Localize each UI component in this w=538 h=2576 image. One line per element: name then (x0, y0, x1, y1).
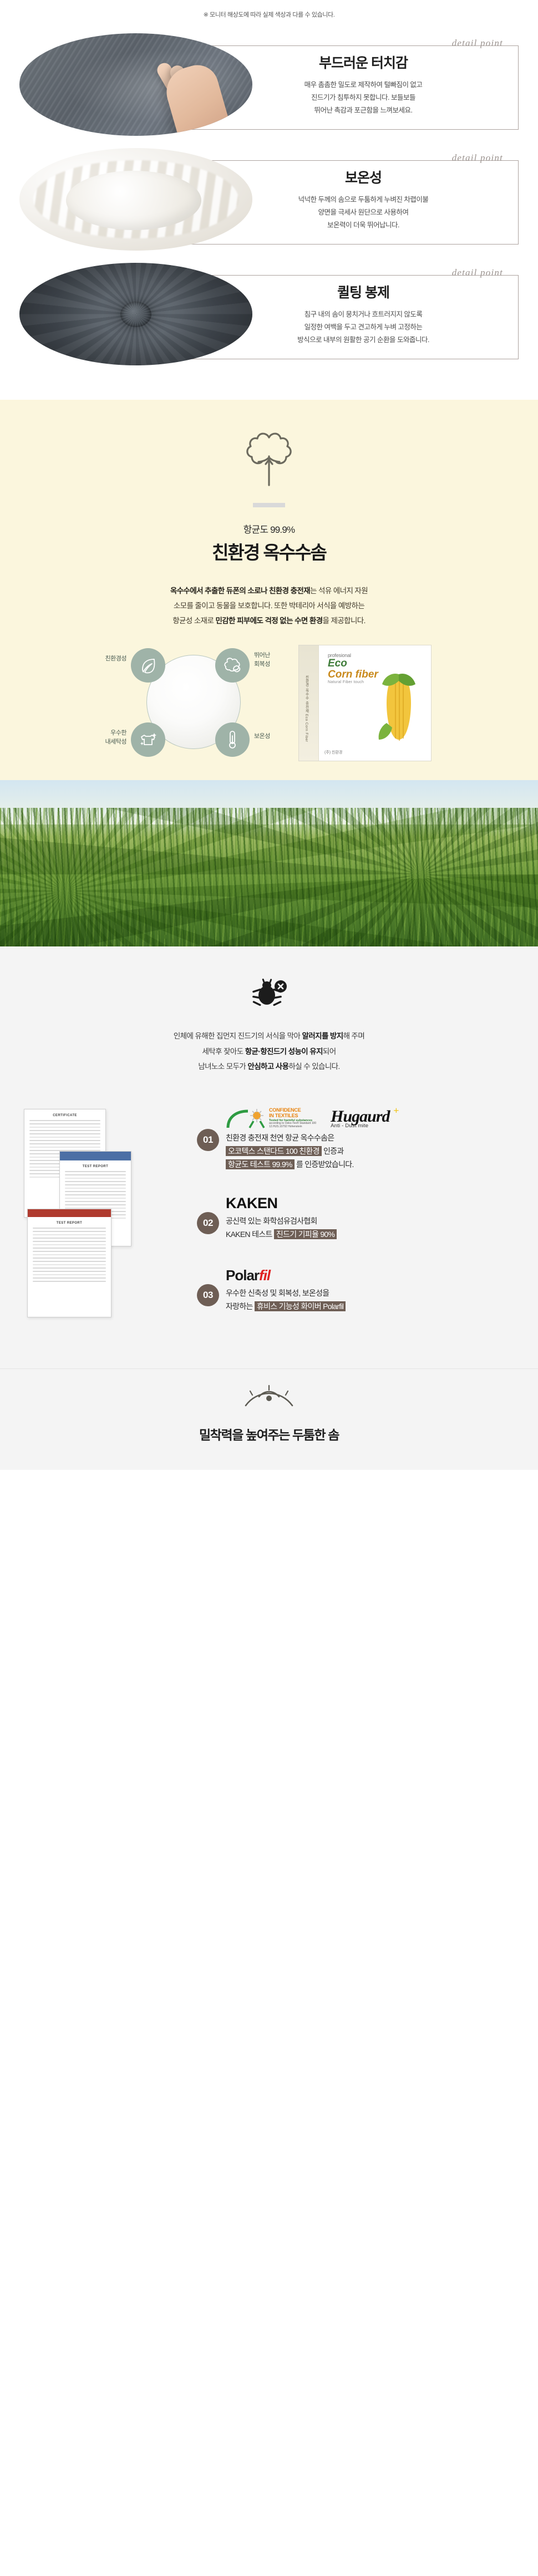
polarfil-logo: Polarfil (226, 1267, 270, 1284)
polarfil-text-b: fil (259, 1267, 270, 1284)
desc-line: 매우 촘촘한 밀도로 제작하여 털빠짐이 없고 (214, 79, 513, 91)
feature-icon-cluster: 친환경성 뛰어난 회복성 우수한 내세탁성 보온성 (106, 645, 278, 761)
corn-fiber-package-photo: 친환경 옥수수 충전재 Eco Corn Fiber profesional E… (298, 645, 432, 761)
mite-text-bold: 항균·항진드기 성능이 유지 (245, 1047, 323, 1056)
cert-line: KAKEN 테스트 진드기 기피율 90% (226, 1228, 519, 1241)
detail-text-3: detail point 퀼팅 봉제 침구 내의 솜이 뭉치거나 흐트러지지 않… (214, 278, 513, 347)
oeko-text-block: CONFIDENCE IN TEXTILES Tested for harmfu… (269, 1107, 316, 1129)
package-brand-line2: Corn fiber (328, 669, 378, 680)
kaken-logo: KAKEN (226, 1195, 278, 1212)
document-header-band (60, 1152, 131, 1160)
mite-text-bold: 알러지를 방지 (302, 1032, 343, 1040)
section-divider (253, 503, 285, 507)
footer-title: 밀착력을 높여주는 두툼한 솜 (0, 1424, 538, 1443)
anti-mite-body-text: 인체에 유해한 집먼지 진드기의 서식을 막아 알러지를 방지해 주며 세탁후 … (0, 1029, 538, 1075)
eco-body-text: 옥수수에서 추출한 듀폰의 소로나 친환경 충전재는 석유 에너지 자원 소모를… (75, 583, 463, 645)
certificate-number-02: 02 (197, 1212, 219, 1234)
mite-text: 되어 (323, 1047, 336, 1056)
feature-label-line: 내세탁성 (80, 738, 126, 747)
certificates-section: CERTIFICATE TEST REPORT TEST REPORT (0, 1100, 538, 1368)
cert-text-plain: 인증과 (322, 1147, 344, 1155)
oeko-line-1: CONFIDENCE (269, 1107, 316, 1113)
mite-text-bold: 안심하고 사용 (247, 1062, 288, 1071)
laundry-shirt-icon (131, 722, 165, 757)
product-detail-page: ※ 모니터 해상도에 따라 실제 색상과 다를 수 있습니다. detail p… (0, 0, 538, 1470)
document-title: TEST REPORT (60, 1165, 131, 1168)
detail-point-label-2: detail point (214, 152, 503, 164)
package-brand-logo: profesional Eco Corn fiber Natural Fiber… (328, 653, 378, 685)
hugaurd-wordmark: Hugaurd (331, 1107, 389, 1126)
eco-subtitle: 항균도 99.9% (0, 522, 538, 536)
certificate-item-02: KAKEN 02 공신력 있는 화학섬유검사협회 KAKEN 테스트 진드기 기… (197, 1183, 519, 1255)
certificate-text-02: 공신력 있는 화학섬유검사협회 KAKEN 테스트 진드기 기피율 90% (226, 1212, 519, 1241)
document-title: TEST REPORT (28, 1221, 111, 1225)
cert-line: 자랑하는 휴비스 기능성 화이버 Polarfil (226, 1300, 519, 1313)
desc-line: 보온력이 더욱 뛰어납니다. (214, 219, 513, 232)
detail-point-block-3: detail point 퀼팅 봉제 침구 내의 솜이 뭉치거나 흐트러지지 않… (19, 263, 519, 365)
feature-label-line: 회복성 (254, 660, 270, 669)
leaf-icon (131, 648, 165, 683)
oeko-tex-confidence-in-textiles-logo: CONFIDENCE IN TEXTILES Tested for harmfu… (226, 1107, 316, 1129)
detail-point-desc-2: 넉넉한 두께의 솜으로 두툼하게 누벼진 차렵이불 양면을 극세사 원단으로 사… (214, 194, 513, 232)
polarfil-text-a: Polar (226, 1267, 259, 1284)
detail-point-label-1: detail point (214, 38, 503, 49)
feature-label-warmth: 보온성 (254, 732, 270, 741)
mite-line-2: 세탁후 잦아도 항균·항진드기 성능이 유지되어 (0, 1044, 538, 1060)
cert-highlight: 진드기 기피율 90% (274, 1229, 337, 1239)
oeko-arc-icon (226, 1108, 267, 1128)
cert-text-plain: 자랑하는 (226, 1302, 255, 1311)
feature-label-line: 우수한 (80, 729, 126, 738)
desc-line: 뛰어난 촉감과 포근함을 느껴보세요. (214, 104, 513, 117)
certificate-list: CONFIDENCE IN TEXTILES Tested for harmfu… (197, 1100, 519, 1327)
hugaurd-logo: Hugaurd + (331, 1107, 389, 1126)
cornfield-leaves (0, 808, 538, 946)
cert-text-plain: 를 인증받았습니다. (295, 1160, 354, 1169)
hugaurd-plus-icon: + (393, 1105, 398, 1117)
mite-text: 남녀노소 모두가 (198, 1062, 247, 1071)
mite-text: 하실 수 있습니다. (288, 1062, 339, 1071)
cert-line: 우수한 신축성 및 회복성, 보온성을 (226, 1286, 519, 1300)
mite-text: 세탁후 잦아도 (202, 1047, 245, 1056)
certificate-logos-02: KAKEN (226, 1183, 519, 1212)
eco-corn-section: 항균도 99.9% 친환경 옥수수솜 옥수수에서 추출한 듀폰의 소로나 친환경… (0, 400, 538, 946)
cotton-loft-icon (242, 1383, 296, 1412)
certificate-item-03: Polarfil 03 우수한 신축성 및 회복성, 보온성을 자랑하는 휴비스… (197, 1255, 519, 1327)
certificate-text-01: 친환경 충전재 천연 항균 옥수수솜은 오코텍스 스탠다드 100 친환경 인증… (226, 1129, 519, 1171)
detail-point-title-1: 부드러운 터치감 (214, 52, 513, 72)
package-bottom-text: (주) 친환경 (324, 750, 342, 755)
package-side-strip (299, 645, 319, 761)
package-brand-line1: Eco (328, 658, 378, 669)
detail-point-desc-3: 침구 내의 솜이 뭉치거나 흐트러지지 않도록 일정한 여백을 두고 견고하게 … (214, 308, 513, 347)
oeko-line-5: 12.HUS.10792 Hohenstein (269, 1126, 316, 1129)
detail-point-block-1: detail point 부드러운 터치감 매우 촘촘한 밀도로 제작하여 털빠… (19, 33, 519, 136)
document-title: CERTIFICATE (24, 1114, 105, 1117)
certificates-inner: CERTIFICATE TEST REPORT TEST REPORT (19, 1100, 519, 1338)
mite-text: 인체에 유해한 집먼지 진드기의 서식을 막아 (174, 1032, 302, 1040)
corn-cob-illustration (374, 670, 423, 743)
anti-mite-section: 인체에 유해한 집먼지 진드기의 서식을 막아 알러지를 방지해 주며 세탁후 … (0, 946, 538, 1100)
cert-highlight: 오코텍스 스탠다드 100 친환경 (226, 1146, 322, 1156)
eco-body-normal: 항균성 소재로 (172, 617, 215, 625)
oeko-line-2: IN TEXTILES (269, 1113, 316, 1119)
detail-points-section: detail point 부드러운 터치감 매우 촘촘한 밀도로 제작하여 털빠… (0, 27, 538, 400)
footer-teaser-section: 밀착력을 높여주는 두툼한 솜 (0, 1368, 538, 1470)
desc-line: 방식으로 내부의 원활한 공기 순환을 도와줍니다. (214, 334, 513, 347)
detail-point-title-2: 보온성 (214, 167, 513, 187)
feature-label-resilience: 뛰어난 회복성 (254, 651, 270, 669)
document-lines (28, 1228, 111, 1282)
eco-body-normal: 는 석유 에너지 자원 (310, 587, 368, 595)
eco-body-normal: 을 제공합니다. (323, 617, 366, 625)
detail-text-2: detail point 보온성 넉넉한 두께의 솜으로 두툼하게 누벼진 차렵… (214, 164, 513, 232)
detail-point-title-3: 퀼팅 봉제 (214, 282, 513, 302)
detail-text-1: detail point 부드러운 터치감 매우 촘촘한 밀도로 제작하여 털빠… (214, 49, 513, 117)
cornfield-photo (0, 780, 538, 946)
certificate-text-03: 우수한 신축성 및 회복성, 보온성을 자랑하는 휴비스 기능성 화이버 Pol… (226, 1284, 519, 1313)
package-side-text: 친환경 옥수수 충전재 Eco Corn Fiber (303, 675, 309, 742)
eco-body-line-2: 소모를 줄이고 동물을 보호합니다. 또한 박테리아 서식을 예방하는 (75, 598, 463, 613)
eco-body-bold: 옥수수에서 추출한 듀폰의 소로나 친환경 충전재 (170, 587, 310, 595)
cert-line: 친환경 충전재 천연 항균 옥수수솜은 (226, 1131, 519, 1144)
detail-point-desc-1: 매우 촘촘한 밀도로 제작하여 털빠짐이 없고 진드기가 침투하지 못합니다. … (214, 79, 513, 117)
cert-highlight: 항균도 테스트 99.9% (226, 1159, 295, 1169)
mite-text: 해 주며 (343, 1032, 365, 1040)
cert-line: 오코텍스 스탠다드 100 친환경 인증과 (226, 1144, 519, 1158)
certificate-number-01: 01 (197, 1129, 219, 1151)
detail-point-block-2: detail point 보온성 넉넉한 두께의 솜으로 두툼하게 누벼진 차렵… (19, 148, 519, 251)
eco-features-row: 친환경성 뛰어난 회복성 우수한 내세탁성 보온성 친환경 옥수수 충전재 Ec… (19, 645, 519, 780)
desc-line: 양면을 극세사 원단으로 사용하여 (214, 206, 513, 219)
certificate-item-01: CONFIDENCE IN TEXTILES Tested for harmfu… (197, 1100, 519, 1183)
desc-line: 넉넉한 두께의 솜으로 두툼하게 누벼진 차렵이불 (214, 194, 513, 206)
hugaurd-logo-wrap: Hugaurd + Anti - Dust mite (331, 1107, 389, 1129)
cert-highlight: 휴비스 기능성 화이버 Polarfil (255, 1301, 346, 1311)
color-disclaimer-notice: ※ 모니터 해상도에 따라 실제 색상과 다를 수 있습니다. (0, 0, 538, 27)
desc-line: 진드기가 침투하지 못합니다. 보들보들 (214, 91, 513, 104)
desc-line: 침구 내의 솜이 뭉치거나 흐트러지지 않도록 (214, 308, 513, 321)
feature-label-eco: 친환경성 (80, 655, 126, 664)
certificate-logos-01: CONFIDENCE IN TEXTILES Tested for harmfu… (226, 1100, 519, 1129)
document-header-band (28, 1209, 111, 1217)
eco-body-line-1: 옥수수에서 추출한 듀폰의 소로나 친환경 충전재는 석유 에너지 자원 (75, 583, 463, 598)
eco-body-bold: 민감한 피부에도 걱정 없는 수면 환경 (215, 617, 322, 625)
mite-line-1: 인체에 유해한 집먼지 진드기의 서식을 막아 알러지를 방지해 주며 (0, 1029, 538, 1044)
certificate-logos-03: Polarfil (226, 1255, 519, 1284)
cotton-puff-icon (215, 648, 250, 683)
certificate-number-03: 03 (197, 1284, 219, 1306)
cert-text-plain: KAKEN 테스트 (226, 1230, 274, 1239)
detail-point-label-3: detail point (214, 267, 503, 278)
cert-line: 공신력 있는 화학섬유검사협회 (226, 1214, 519, 1228)
feature-label-washability: 우수한 내세탁성 (80, 729, 126, 747)
feature-label-line: 뛰어난 (254, 651, 270, 660)
eco-body-line-3: 항균성 소재로 민감한 피부에도 걱정 없는 수면 환경을 제공합니다. (75, 613, 463, 628)
cotton-flower-icon (243, 429, 295, 491)
cert-line: 항균도 테스트 99.9% 를 인증받았습니다. (226, 1158, 519, 1171)
eco-title: 친환경 옥수수솜 (0, 538, 538, 564)
thermometer-icon (215, 722, 250, 757)
mite-line-3: 남녀노소 모두가 안심하고 사용하실 수 있습니다. (0, 1059, 538, 1075)
certificate-document-3: TEST REPORT (27, 1209, 111, 1317)
desc-line: 일정한 여백을 두고 견고하게 누벼 고정하는 (214, 321, 513, 334)
package-brand-sub: Natural Fiber touch (328, 680, 378, 684)
dust-mite-blocked-icon (249, 976, 289, 1013)
